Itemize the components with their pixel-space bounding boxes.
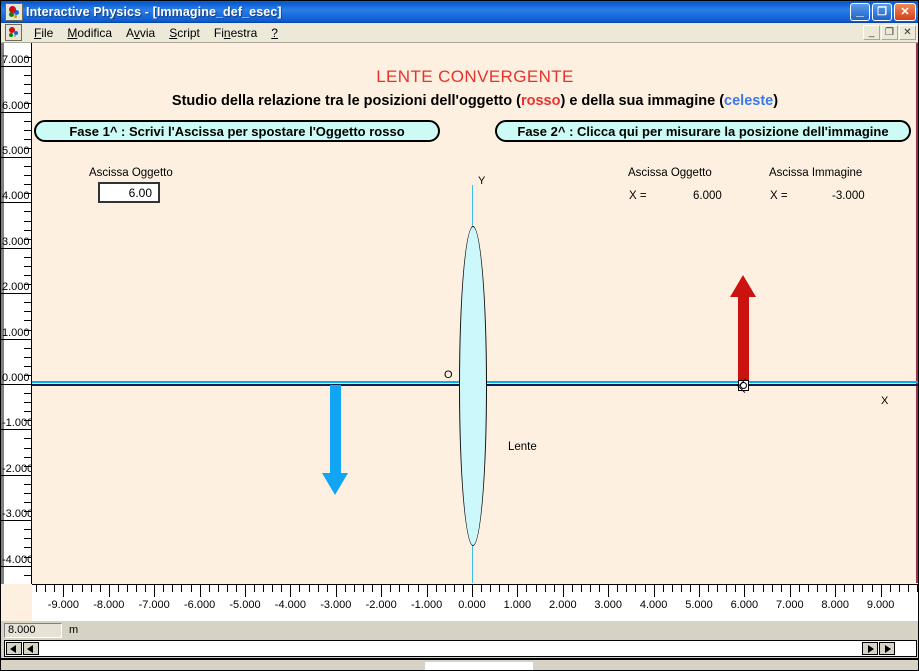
y-tick-major — [1, 66, 31, 67]
y-tick-minor — [24, 166, 31, 167]
x-tick-label: -9.000 — [48, 599, 79, 611]
lens-shape[interactable] — [459, 226, 487, 546]
y-tick-minor — [24, 320, 31, 321]
y-tick-major — [1, 157, 31, 158]
x-tick-label: 1.000 — [504, 599, 532, 611]
y-tick-minor — [24, 121, 31, 122]
x-tick-label: -6.000 — [184, 599, 215, 611]
x-tick-minor — [763, 585, 764, 592]
y-tick-minor — [24, 466, 31, 467]
restore-icon: ❐ — [873, 4, 891, 20]
y-tick-major — [1, 248, 31, 249]
x-tick-minor — [281, 585, 282, 592]
x-tick-minor — [772, 585, 773, 592]
chevron-left-icon — [10, 645, 16, 653]
x-tick-major — [245, 585, 246, 597]
x-tick-label: 9.000 — [867, 599, 895, 611]
menu-finestra-post: estra — [231, 26, 258, 40]
x-tick-minor — [463, 585, 464, 592]
x-tick-label: -8.000 — [93, 599, 124, 611]
x-tick-major — [517, 585, 518, 597]
scene-title: LENTE CONVERGENTE — [32, 67, 918, 87]
chevron-right-icon — [885, 645, 891, 653]
x-tick-minor — [372, 585, 373, 592]
image-arrow-head[interactable] — [322, 473, 348, 495]
x-tick-label: 4.000 — [640, 599, 668, 611]
x-tick-minor — [45, 585, 46, 592]
y-tick-minor — [24, 84, 31, 85]
menu-avvia-pre: A — [126, 26, 134, 40]
x-tick-minor — [363, 585, 364, 592]
x-tick-major — [63, 585, 64, 597]
menu-file-post: ile — [41, 26, 53, 40]
x-tick-minor — [735, 585, 736, 592]
window-title: Interactive Physics - [Immagine_def_esec… — [26, 5, 282, 19]
x-tick-minor — [717, 585, 718, 592]
y-tick-minor — [24, 511, 31, 512]
y-tick-major — [1, 339, 31, 340]
x-tick-minor — [799, 585, 800, 592]
x-tick-minor — [36, 585, 37, 592]
y-tick-minor — [24, 311, 31, 312]
y-tick-minor — [24, 366, 31, 367]
taskbar-window-button[interactable] — [425, 662, 533, 671]
y-tick-minor — [24, 420, 31, 421]
y-tick-minor — [24, 239, 31, 240]
scroll-left-page-button[interactable] — [23, 642, 39, 655]
x-tick-label: 6.000 — [731, 599, 759, 611]
x-tick-major — [154, 585, 155, 597]
x-tick-minor — [272, 585, 273, 592]
scroll-right-page-button[interactable] — [862, 642, 878, 655]
y-tick-minor — [24, 538, 31, 539]
x-tick-label: -7.000 — [139, 599, 170, 611]
y-tick-label: 1.000 — [2, 327, 30, 339]
x-tick-minor — [454, 585, 455, 592]
x-tick-minor — [908, 585, 909, 592]
x-tick-label: 0.000 — [458, 599, 486, 611]
menu-item-script[interactable]: Script — [162, 24, 207, 42]
subtitle-celeste: celeste — [724, 93, 773, 109]
x-tick-major — [790, 585, 791, 597]
mdi-restore-button[interactable]: ❐ — [881, 25, 898, 40]
x-tick-major — [200, 585, 201, 597]
close-button[interactable]: ✕ — [894, 3, 916, 21]
subtitle-rosso: rosso — [521, 93, 561, 109]
mdi-close-button[interactable]: ✕ — [899, 25, 916, 40]
menu-finestra-accel: n — [224, 26, 231, 40]
x-tick-minor — [327, 585, 328, 592]
y-tick-label: 5.000 — [2, 145, 30, 157]
lens-label: Lente — [508, 441, 537, 453]
object-anchor-handle[interactable] — [738, 380, 749, 391]
x-tick-minor — [872, 585, 873, 592]
y-tick-major — [1, 566, 31, 567]
y-tick-label: 3.000 — [2, 236, 30, 248]
status-unit-label: m — [69, 624, 78, 636]
x-tick-minor — [299, 585, 300, 592]
menu-help-accel: ? — [271, 26, 278, 40]
horizontal-scrollbar[interactable] — [4, 640, 917, 657]
y-tick-minor — [24, 175, 31, 176]
y-tick-minor — [24, 275, 31, 276]
x-tick-minor — [490, 585, 491, 592]
menu-modifica-accel: M — [67, 26, 77, 40]
status-bar: 8.000 m — [1, 621, 919, 639]
x-tick-minor — [191, 585, 192, 592]
y-tick-minor — [24, 575, 31, 576]
x-tick-major — [608, 585, 609, 597]
scroll-right-button[interactable] — [879, 642, 895, 655]
x-tick-minor — [581, 585, 582, 592]
y-tick-minor — [24, 257, 31, 258]
window-title-app: Interactive Physics — [26, 5, 141, 19]
menu-script-post: cript — [177, 26, 200, 40]
x-tick-major — [563, 585, 564, 597]
x-tick-minor — [218, 585, 219, 592]
x-tick-minor — [681, 585, 682, 592]
x-tick-minor — [508, 585, 509, 592]
x-tick-minor — [526, 585, 527, 592]
x-tick-minor — [726, 585, 727, 592]
x-tick-label: 5.000 — [685, 599, 713, 611]
x-tick-minor — [781, 585, 782, 592]
y-tick-minor — [24, 330, 31, 331]
x-tick-minor — [626, 585, 627, 592]
y-tick-major — [1, 112, 31, 113]
x-tick-label: 7.000 — [776, 599, 804, 611]
y-tick-minor — [24, 148, 31, 149]
application-icon — [5, 3, 23, 21]
y-tick-minor — [24, 411, 31, 412]
y-tick-minor — [24, 193, 31, 194]
y-tick-minor — [24, 357, 31, 358]
menu-finestra-pre: Fi — [214, 26, 224, 40]
y-tick-minor — [24, 103, 31, 104]
scene-subtitle: Studio della relazione tra le posizioni … — [32, 93, 918, 109]
readout-oggetto-title: Ascissa Oggetto — [628, 167, 712, 179]
minimize-icon: _ — [851, 4, 869, 20]
x-tick-minor — [399, 585, 400, 592]
origin-label: O — [444, 369, 453, 381]
y-tick-minor — [24, 93, 31, 94]
x-tick-minor — [91, 585, 92, 592]
readout-immagine-x-value: -3.000 — [832, 190, 865, 202]
y-tick-minor — [24, 438, 31, 439]
y-tick-label: 0.000 — [2, 372, 30, 384]
y-tick-minor — [24, 57, 31, 58]
y-tick-minor — [24, 393, 31, 394]
x-tick-minor — [72, 585, 73, 592]
subtitle-text-3: ) — [773, 93, 778, 109]
x-tick-minor — [817, 585, 818, 592]
x-tick-label: -5.000 — [229, 599, 260, 611]
mdi-window-controls: _ ❐ ✕ — [863, 25, 919, 40]
x-tick-minor — [263, 585, 264, 592]
x-tick-minor — [536, 585, 537, 592]
y-tick-label: -4.000 — [2, 554, 32, 566]
x-tick-minor — [545, 585, 546, 592]
y-tick-major — [1, 202, 31, 203]
document-area: 7.0006.0005.0004.0003.0002.0001.0000.000… — [1, 43, 919, 621]
x-tick-major — [381, 585, 382, 597]
y-tick-label: -1.000 — [2, 417, 32, 429]
phase-2-button[interactable]: Fase 2^ : Clicca qui per misurare la pos… — [495, 120, 911, 142]
menu-avvia-post: via — [140, 26, 155, 40]
close-icon: ✕ — [895, 4, 915, 20]
y-tick-minor — [24, 284, 31, 285]
x-tick-minor — [209, 585, 210, 592]
y-tick-minor — [24, 184, 31, 185]
y-tick-minor — [24, 484, 31, 485]
readout-oggetto-x-value: 6.000 — [693, 190, 722, 202]
x-tick-minor — [418, 585, 419, 592]
x-tick-minor — [318, 585, 319, 592]
x-tick-minor — [826, 585, 827, 592]
minimize-button[interactable]: _ — [850, 3, 870, 21]
y-tick-minor — [24, 302, 31, 303]
x-tick-minor — [617, 585, 618, 592]
x-tick-label: -4.000 — [275, 599, 306, 611]
menu-item-finestra[interactable]: Finestra — [207, 24, 264, 42]
x-tick-label: 3.000 — [594, 599, 622, 611]
scroll-left-button[interactable] — [6, 642, 22, 655]
x-tick-major — [744, 585, 745, 597]
x-tick-minor — [254, 585, 255, 592]
mdi-minimize-button[interactable]: _ — [863, 25, 880, 40]
x-tick-minor — [227, 585, 228, 592]
y-tick-minor — [24, 221, 31, 222]
y-axis-label: Y — [478, 175, 485, 187]
x-tick-minor — [890, 585, 891, 592]
menu-script-accel: S — [169, 26, 177, 40]
y-tick-minor — [24, 230, 31, 231]
y-tick-minor — [24, 448, 31, 449]
application-window: Interactive Physics - [Immagine_def_esec… — [0, 0, 919, 671]
y-tick-minor — [24, 211, 31, 212]
x-tick-minor — [844, 585, 845, 592]
x-tick-label: 2.000 — [549, 599, 577, 611]
x-tick-major — [881, 585, 882, 597]
y-tick-minor — [24, 493, 31, 494]
x-tick-major — [699, 585, 700, 597]
x-tick-major — [427, 585, 428, 597]
x-tick-major — [654, 585, 655, 597]
vertical-ruler-edge — [1, 43, 4, 584]
y-tick-minor — [24, 348, 31, 349]
x-tick-minor — [236, 585, 237, 592]
x-tick-minor — [163, 585, 164, 592]
window-controls: _ ❐ ✕ — [850, 3, 918, 21]
menu-bar: File Modifica Avvia Script Finestra ? _ … — [1, 23, 919, 43]
menu-item-modifica[interactable]: Modifica — [60, 24, 119, 42]
ascissa-oggetto-input[interactable]: 6.00 — [98, 182, 160, 203]
x-tick-major — [290, 585, 291, 597]
window-title-separator: - — [145, 5, 153, 19]
chevron-right-page-icon — [868, 645, 874, 653]
x-tick-minor — [390, 585, 391, 592]
x-tick-minor — [917, 585, 918, 592]
object-arrow-head[interactable] — [730, 275, 756, 297]
x-tick-minor — [590, 585, 591, 592]
x-tick-minor — [309, 585, 310, 592]
y-tick-major — [1, 475, 31, 476]
readout-immagine-title: Ascissa Immagine — [769, 167, 862, 179]
x-tick-minor — [136, 585, 137, 592]
restore-button[interactable]: ❐ — [872, 3, 892, 21]
y-tick-label: 6.000 — [2, 100, 30, 112]
y-tick-minor — [24, 130, 31, 131]
subtitle-text-2: ) e della sua immagine ( — [560, 93, 724, 109]
x-tick-minor — [54, 585, 55, 592]
x-tick-minor — [635, 585, 636, 592]
object-anchor-ring — [740, 382, 747, 389]
x-tick-minor — [408, 585, 409, 592]
y-tick-label: 4.000 — [2, 190, 30, 202]
phase-1-button[interactable]: Fase 1^ : Scrivi l'Ascissa per spostare … — [34, 120, 440, 142]
horizontal-ruler[interactable]: -9.000-8.000-7.000-6.000-5.000-4.000-3.0… — [32, 584, 919, 621]
x-tick-minor — [853, 585, 854, 592]
title-bar: Interactive Physics - [Immagine_def_esec… — [1, 1, 919, 23]
x-tick-major — [835, 585, 836, 597]
x-tick-minor — [345, 585, 346, 592]
x-tick-minor — [499, 585, 500, 592]
y-tick-minor — [24, 457, 31, 458]
x-tick-minor — [181, 585, 182, 592]
y-tick-minor — [24, 402, 31, 403]
y-tick-minor — [24, 557, 31, 558]
menu-modifica-post: odifica — [77, 26, 112, 40]
x-tick-minor — [572, 585, 573, 592]
x-tick-minor — [118, 585, 119, 592]
status-value-field[interactable]: 8.000 — [4, 623, 62, 638]
y-tick-minor — [24, 266, 31, 267]
readout-oggetto-x-label: X = — [629, 190, 647, 202]
y-tick-major — [1, 384, 31, 385]
y-tick-label: -2.000 — [2, 463, 32, 475]
y-tick-major — [1, 429, 31, 430]
taskbar — [1, 658, 919, 671]
x-tick-minor — [145, 585, 146, 592]
y-tick-major — [1, 520, 31, 521]
x-tick-minor — [100, 585, 101, 592]
x-tick-label: -1.000 — [411, 599, 442, 611]
x-axis-label: X — [881, 395, 888, 407]
x-tick-major — [472, 585, 473, 597]
simulation-canvas[interactable]: Y X O LENTE CONVERGENTE Studio della rel… — [32, 43, 918, 583]
x-tick-minor — [899, 585, 900, 592]
menu-item-help[interactable]: ? — [264, 24, 285, 42]
x-tick-major — [336, 585, 337, 597]
x-tick-minor — [554, 585, 555, 592]
x-tick-minor — [599, 585, 600, 592]
y-tick-label: 2.000 — [2, 281, 30, 293]
x-tick-minor — [753, 585, 754, 592]
x-tick-minor — [82, 585, 83, 592]
x-tick-minor — [690, 585, 691, 592]
x-tick-minor — [663, 585, 664, 592]
x-tick-minor — [672, 585, 673, 592]
menu-item-file[interactable]: File — [27, 24, 60, 42]
x-tick-major — [109, 585, 110, 597]
menu-item-avvia[interactable]: Avvia — [119, 24, 162, 42]
readout-immagine-x-label: X = — [770, 190, 788, 202]
x-tick-minor — [172, 585, 173, 592]
x-tick-label: -3.000 — [320, 599, 351, 611]
object-arrow-shaft[interactable] — [738, 291, 749, 386]
y-tick-minor — [24, 547, 31, 548]
y-tick-major — [1, 293, 31, 294]
y-tick-minor — [24, 502, 31, 503]
y-tick-minor — [24, 139, 31, 140]
x-tick-minor — [354, 585, 355, 592]
x-tick-minor — [481, 585, 482, 592]
document-icon — [5, 24, 22, 41]
x-tick-label: -2.000 — [366, 599, 397, 611]
x-tick-label: 8.000 — [821, 599, 849, 611]
ascissa-oggetto-input-label: Ascissa Oggetto — [89, 167, 173, 179]
x-tick-minor — [808, 585, 809, 592]
y-tick-label: 7.000 — [2, 54, 30, 66]
y-tick-minor — [24, 75, 31, 76]
x-tick-minor — [862, 585, 863, 592]
subtitle-text-1: Studio della relazione tra le posizioni … — [172, 93, 521, 109]
y-tick-label: -3.000 — [2, 508, 32, 520]
window-title-document: [Immagine_def_esec] — [153, 5, 282, 19]
image-arrow-shaft[interactable] — [330, 385, 341, 473]
chevron-left-page-icon — [27, 645, 33, 653]
x-tick-minor — [708, 585, 709, 592]
x-tick-minor — [436, 585, 437, 592]
y-tick-minor — [24, 375, 31, 376]
x-tick-minor — [127, 585, 128, 592]
vertical-ruler[interactable]: 7.0006.0005.0004.0003.0002.0001.0000.000… — [1, 43, 32, 584]
x-tick-minor — [445, 585, 446, 592]
y-tick-minor — [24, 529, 31, 530]
x-tick-minor — [645, 585, 646, 592]
